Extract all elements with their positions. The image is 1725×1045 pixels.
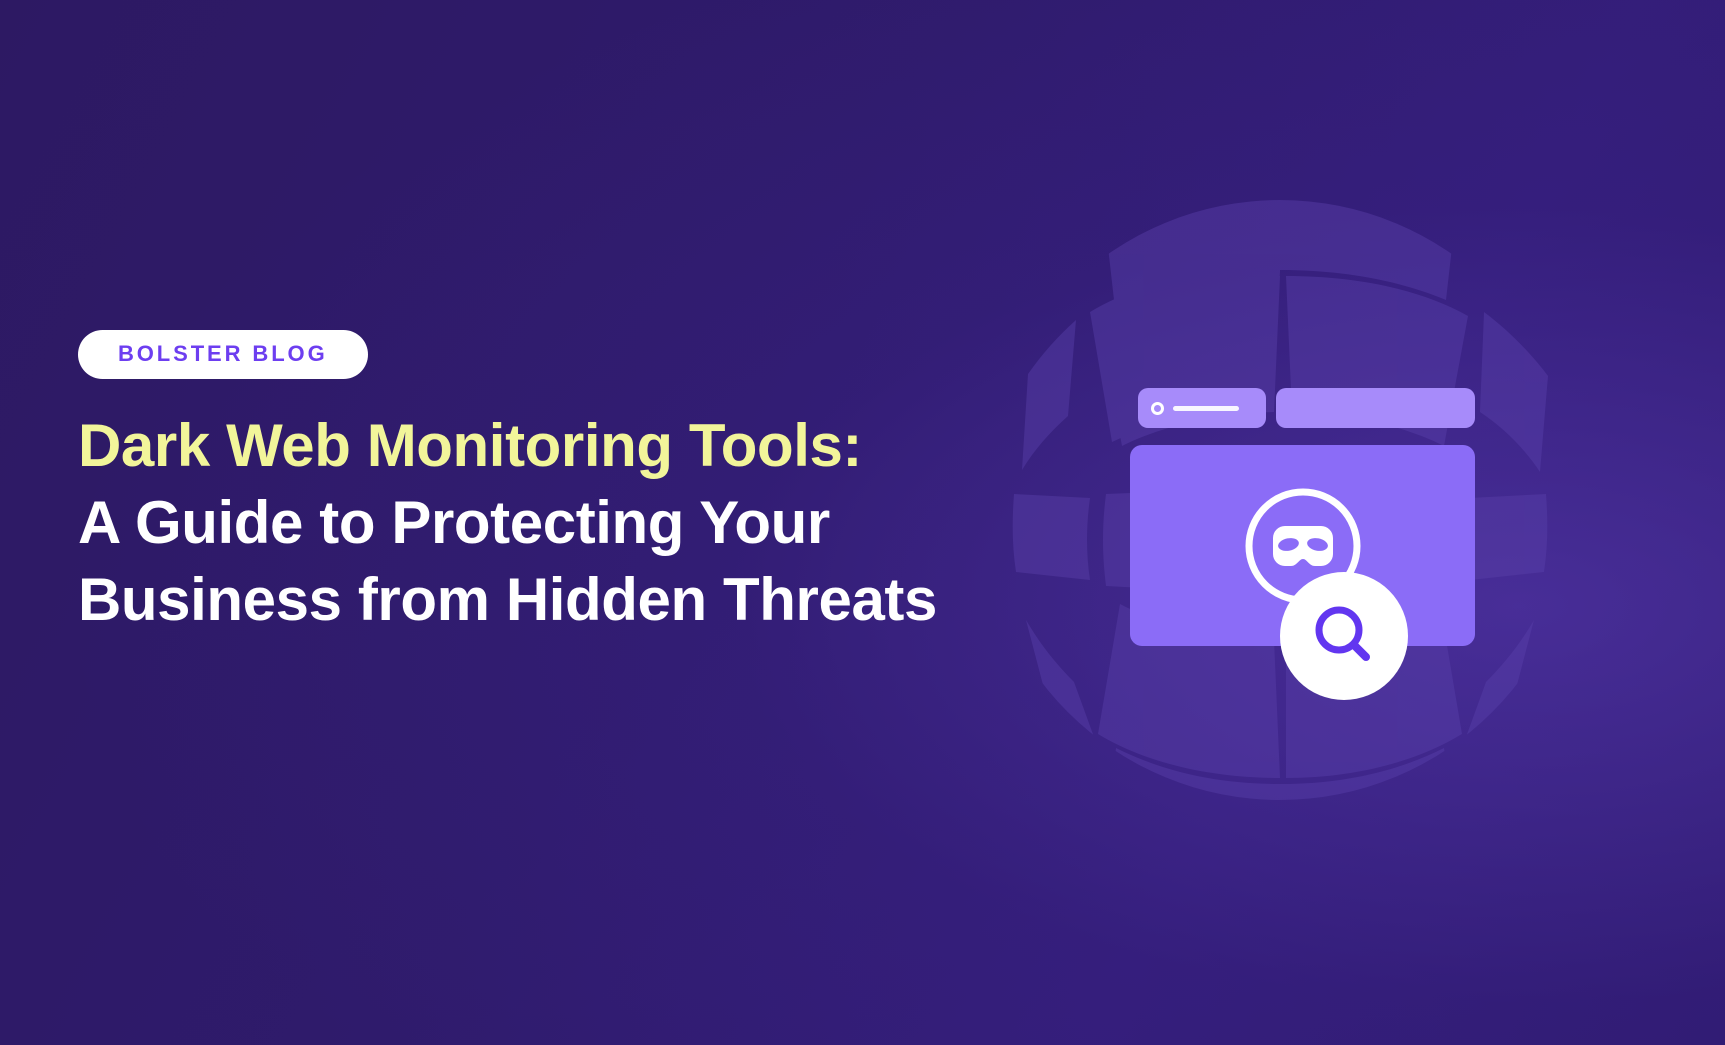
blog-badge[interactable]: BOLSTER BLOG (78, 330, 368, 379)
search-magnifier-icon (1280, 572, 1408, 700)
hero-banner: BOLSTER BLOG Dark Web Monitoring Tools: … (0, 0, 1725, 1045)
blog-badge-label: BOLSTER BLOG (118, 343, 328, 365)
page-title: Dark Web Monitoring Tools: A Guide to Pr… (78, 407, 958, 638)
hero-text-block: BOLSTER BLOG Dark Web Monitoring Tools: … (78, 330, 958, 659)
headline-line-3: Business from Hidden Threats (78, 561, 958, 638)
headline-line-2: A Guide to Protecting Your (78, 484, 958, 561)
browser-tab-secondary[interactable] (1276, 388, 1475, 428)
tab-address-line (1173, 406, 1239, 411)
tab-circle-icon (1151, 402, 1164, 415)
browser-tabbar (1138, 388, 1475, 428)
hero-illustration (930, 150, 1630, 850)
browser-tab-active[interactable] (1138, 388, 1266, 428)
headline-line-1: Dark Web Monitoring Tools: (78, 407, 958, 484)
